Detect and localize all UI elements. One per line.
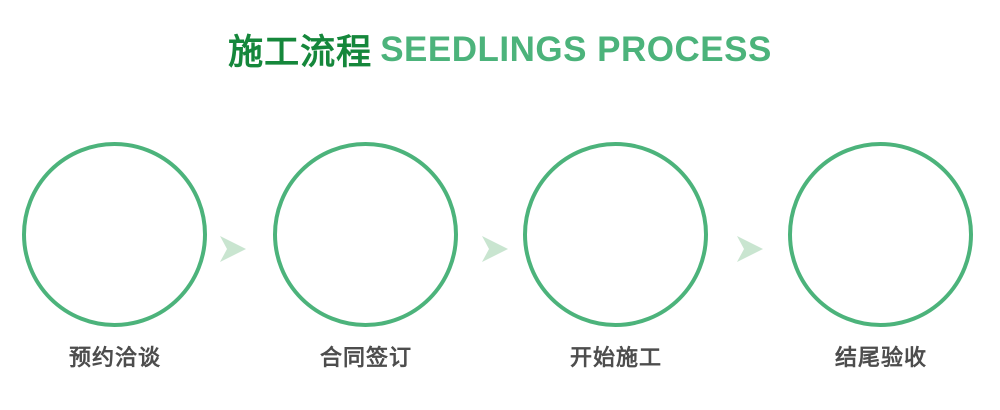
process-step-3[interactable] bbox=[521, 140, 711, 330]
page-title: 施工流程SEEDLINGS PROCESS bbox=[0, 24, 1000, 75]
page-title-chinese: 施工流程 bbox=[228, 33, 372, 72]
process-step-1[interactable] bbox=[20, 140, 210, 330]
step-label-3: 开始施工 bbox=[521, 340, 711, 372]
process-step-2[interactable] bbox=[271, 140, 461, 330]
step-ring-1 bbox=[22, 142, 207, 327]
step-label-2: 合同签订 bbox=[271, 340, 461, 372]
chevron-right-icon bbox=[478, 232, 512, 266]
step-ring-4 bbox=[788, 142, 973, 327]
step-label-4: 结尾验收 bbox=[786, 340, 976, 372]
step-ring-3 bbox=[523, 142, 708, 327]
step-ring-2 bbox=[273, 142, 458, 327]
chevron-right-icon bbox=[216, 232, 250, 266]
process-step-4[interactable] bbox=[786, 140, 976, 330]
step-labels: 预约洽谈 合同签订 开始施工 结尾验收 bbox=[0, 340, 1000, 390]
page-title-english: SEEDLINGS PROCESS bbox=[380, 30, 772, 69]
step-label-1: 预约洽谈 bbox=[20, 340, 210, 372]
chevron-right-icon bbox=[733, 232, 767, 266]
